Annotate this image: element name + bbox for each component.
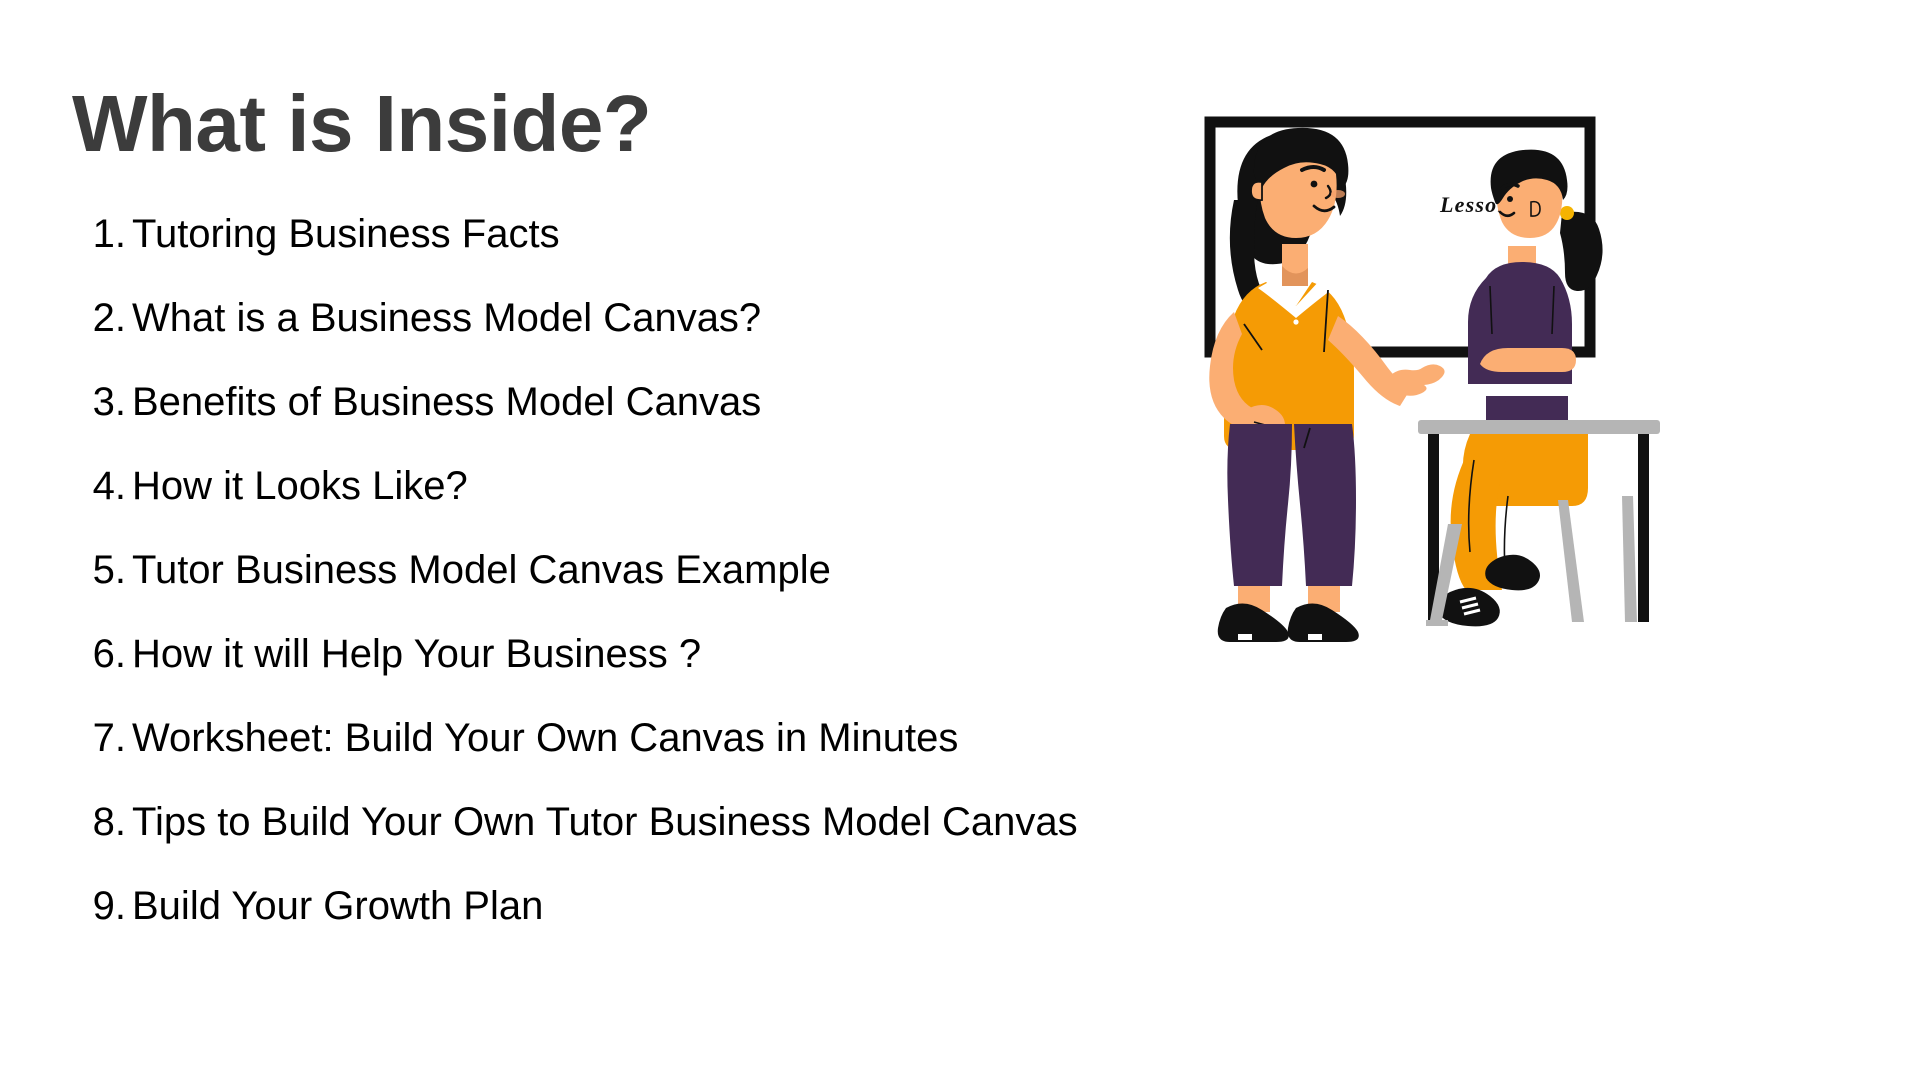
teacher-shoe-heel-left bbox=[1238, 634, 1252, 640]
list-item[interactable]: 2. What is a Business Model Canvas? bbox=[74, 276, 1194, 360]
list-item-number: 9. bbox=[74, 864, 126, 948]
list-item-label: Build Your Growth Plan bbox=[126, 864, 543, 948]
list-item[interactable]: 3. Benefits of Business Model Canvas bbox=[74, 360, 1194, 444]
list-item[interactable]: 8. Tips to Build Your Own Tutor Business… bbox=[74, 780, 1194, 864]
teacher-eye bbox=[1311, 181, 1318, 188]
list-item-label: Benefits of Business Model Canvas bbox=[126, 360, 761, 444]
chair-leg-right bbox=[1622, 496, 1637, 622]
list-item-number: 1. bbox=[74, 192, 126, 276]
teacher-blush bbox=[1331, 190, 1345, 198]
teacher-shoe-right bbox=[1288, 603, 1359, 642]
list-item-number: 4. bbox=[74, 444, 126, 528]
classroom-illustration-svg: Lesson 1 bbox=[1190, 96, 1810, 696]
list-item[interactable]: 7. Worksheet: Build Your Own Canvas in M… bbox=[74, 696, 1194, 780]
list-item[interactable]: 5. Tutor Business Model Canvas Example bbox=[74, 528, 1194, 612]
list-item-label: How it will Help Your Business ? bbox=[126, 612, 701, 696]
desk-foot bbox=[1426, 620, 1448, 626]
list-item[interactable]: 9. Build Your Growth Plan bbox=[74, 864, 1194, 948]
list-item-number: 2. bbox=[74, 276, 126, 360]
slide-root: What is Inside? 1. Tutoring Business Fac… bbox=[0, 0, 1920, 1080]
list-item-label: What is a Business Model Canvas? bbox=[126, 276, 761, 360]
student-arms bbox=[1480, 348, 1576, 372]
list-item-label: Tutor Business Model Canvas Example bbox=[126, 528, 831, 612]
list-item-number: 5. bbox=[74, 528, 126, 612]
list-item[interactable]: 6. How it will Help Your Business ? bbox=[74, 612, 1194, 696]
page-title: What is Inside? bbox=[72, 82, 651, 166]
list-item-label: How it Looks Like? bbox=[126, 444, 468, 528]
chair-leg-left bbox=[1558, 500, 1584, 622]
teacher-shoe-left bbox=[1218, 603, 1289, 642]
list-item-label: Tips to Build Your Own Tutor Business Mo… bbox=[126, 780, 1078, 864]
teacher-ear bbox=[1251, 182, 1262, 200]
teacher-pointing-hand bbox=[1388, 364, 1445, 395]
desk-top bbox=[1418, 420, 1660, 434]
table-of-contents-list: 1. Tutoring Business Facts 2. What is a … bbox=[74, 192, 1194, 948]
list-item-number: 7. bbox=[74, 696, 126, 780]
student-hair-tie bbox=[1560, 206, 1574, 220]
teacher-button-top bbox=[1293, 307, 1298, 312]
teacher-button-bottom bbox=[1293, 319, 1298, 324]
teacher-shoe-heel-right bbox=[1308, 634, 1322, 640]
student-ear bbox=[1531, 202, 1540, 216]
list-item-label: Worksheet: Build Your Own Canvas in Minu… bbox=[126, 696, 958, 780]
list-item-number: 6. bbox=[74, 612, 126, 696]
list-item[interactable]: 1. Tutoring Business Facts bbox=[74, 192, 1194, 276]
teacher-trouser-right bbox=[1294, 424, 1356, 586]
student-ponytail bbox=[1560, 212, 1603, 291]
student-eye bbox=[1507, 196, 1513, 202]
left-content-column: What is Inside? 1. Tutoring Business Fac… bbox=[0, 0, 1200, 1080]
classroom-illustration: Lesson 1 bbox=[1190, 96, 1810, 696]
list-item-number: 8. bbox=[74, 780, 126, 864]
list-item-number: 3. bbox=[74, 360, 126, 444]
teacher-trouser-left bbox=[1227, 424, 1292, 586]
list-item-label: Tutoring Business Facts bbox=[126, 192, 560, 276]
list-item[interactable]: 4. How it Looks Like? bbox=[74, 444, 1194, 528]
